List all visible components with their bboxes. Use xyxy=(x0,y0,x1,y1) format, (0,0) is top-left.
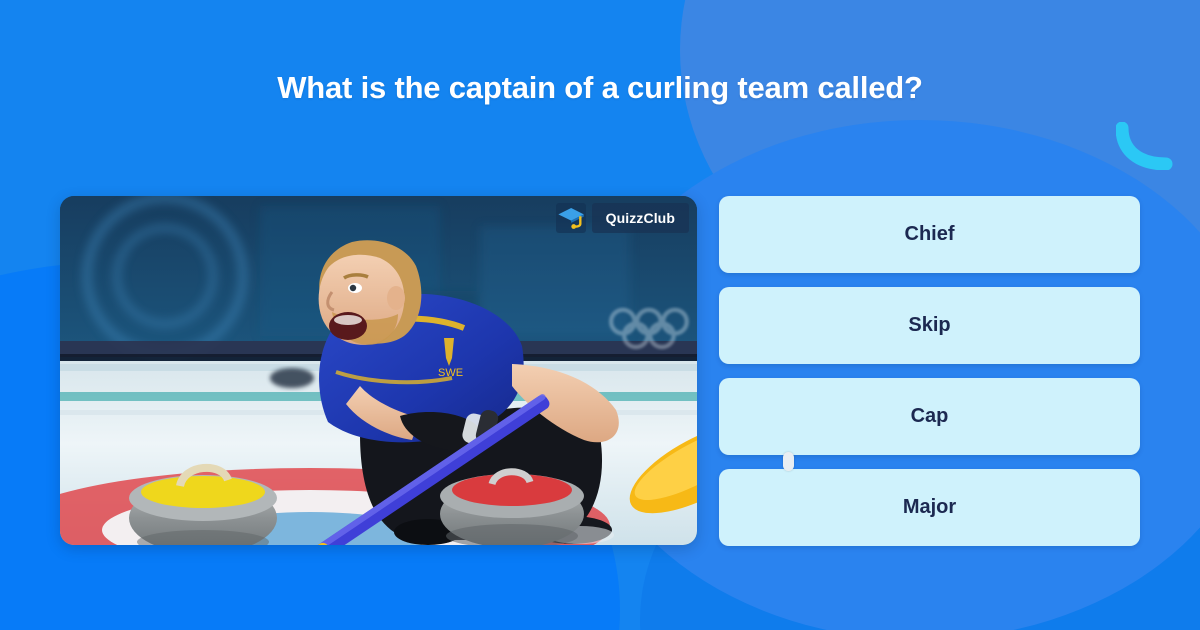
answer-option-4-label: Major xyxy=(903,496,956,519)
answer-option-1[interactable]: Chief xyxy=(719,196,1140,273)
cursor-indicator xyxy=(783,452,794,471)
svg-text:SWE: SWE xyxy=(438,367,463,379)
answer-option-2[interactable]: Skip xyxy=(719,287,1140,364)
graduation-cap-icon xyxy=(556,203,586,233)
watermark-label: QuizzClub xyxy=(592,203,689,233)
question-title: What is the captain of a curling team ca… xyxy=(0,70,1200,106)
answer-option-2-label: Skip xyxy=(908,314,950,337)
quiz-card-stage: What is the captain of a curling team ca… xyxy=(0,0,1200,630)
watermark-badge: QuizzClub xyxy=(556,203,689,233)
question-image-card: SWE xyxy=(60,196,697,545)
answer-option-3-label: Cap xyxy=(911,405,949,428)
answer-option-4[interactable]: Major xyxy=(719,469,1140,546)
answer-options-list: Chief Skip Cap Major xyxy=(719,196,1140,546)
curling-photo: SWE xyxy=(60,196,697,545)
crescent-arc-accent-icon xyxy=(1116,122,1174,170)
answer-option-3[interactable]: Cap xyxy=(719,378,1140,455)
answer-option-1-label: Chief xyxy=(905,223,955,246)
